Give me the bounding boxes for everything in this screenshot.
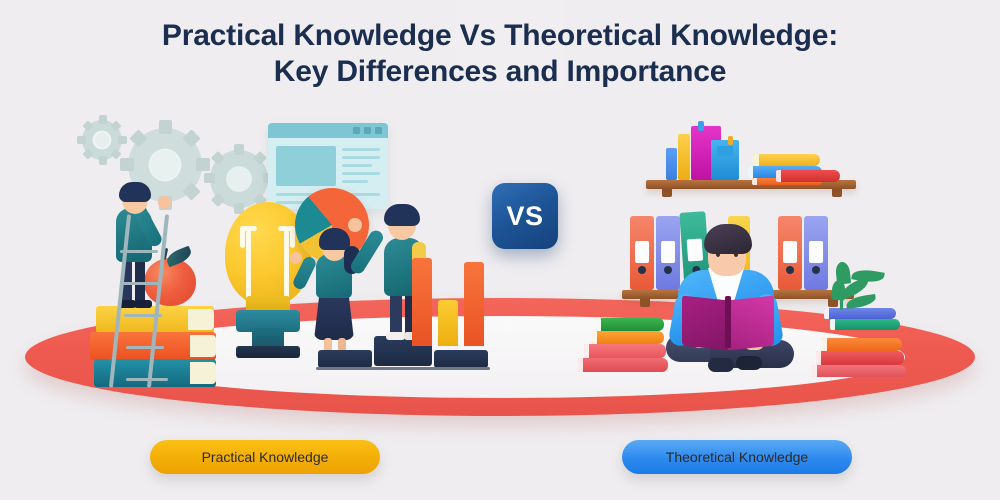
label-practical-knowledge-text: Practical Knowledge	[202, 449, 329, 465]
right-pile-book-blue	[824, 308, 896, 319]
book-pages	[190, 362, 216, 384]
book-edge	[752, 178, 757, 185]
lightbulb-filament	[284, 230, 289, 300]
left-pile-book-pink	[584, 344, 666, 358]
right-pile-book-crimson	[816, 351, 904, 365]
ring-binder-periwinkle-1	[656, 216, 680, 290]
boy-foot-right	[736, 356, 762, 370]
ladder-person-shoe-right	[134, 300, 152, 308]
binder-label	[783, 241, 797, 263]
binder-label	[661, 241, 675, 263]
shelf-book-blue	[666, 148, 677, 180]
bar-chart-bar-2	[438, 300, 458, 346]
window-text-line	[342, 156, 380, 159]
right-pile-book-teal	[830, 319, 900, 330]
lower-shelf-bracket-left	[640, 299, 650, 307]
gear-icon-medium	[210, 150, 268, 208]
open-book-left-page	[682, 296, 728, 351]
boy-eye-right	[734, 252, 738, 257]
plant-stem	[840, 262, 843, 310]
book-edge	[812, 365, 817, 377]
book-edge	[822, 338, 827, 351]
book-edge	[816, 351, 821, 365]
shelf-book-cyan-bookmark	[728, 136, 733, 145]
shelf-book-yellow	[678, 134, 690, 180]
window-text-line	[342, 148, 380, 151]
page-title: Practical Knowledge Vs Theoretical Knowl…	[0, 18, 1000, 90]
label-practical-knowledge[interactable]: Practical Knowledge	[150, 440, 380, 474]
ladder-step	[124, 314, 162, 317]
vs-badge-label: VS	[506, 201, 543, 232]
window-text-line	[342, 172, 380, 175]
shelf-book-cyan-label	[717, 146, 733, 156]
binder-label	[635, 241, 649, 263]
podium-right	[434, 350, 488, 368]
browser-window-titlebar	[268, 123, 388, 138]
ladder-step	[126, 346, 164, 349]
book-edge	[830, 319, 835, 330]
binder-hole	[664, 266, 672, 274]
ring-binder-periwinkle-2	[804, 216, 828, 290]
ladder-person-leg-right	[135, 256, 145, 304]
right-pile-book-orange	[822, 338, 902, 351]
man-hair	[384, 204, 420, 226]
window-hero-block	[276, 146, 336, 186]
bar-chart-bar-3	[464, 262, 484, 346]
bar-chart-bar-1	[412, 258, 432, 346]
shelf-book-magenta-bookmark	[698, 121, 704, 131]
podium-left	[318, 350, 372, 368]
ladder-step	[120, 250, 158, 253]
binder-label	[687, 238, 704, 261]
practical-knowledge-illustration	[60, 110, 500, 400]
theoretical-knowledge-illustration	[600, 112, 930, 397]
book-pages	[190, 335, 216, 357]
book-edge	[596, 318, 601, 331]
lightbulb-filament-loop	[290, 226, 295, 248]
woman-skirt	[314, 292, 354, 340]
podium-base-line	[316, 367, 490, 370]
boy-eye-left	[716, 252, 720, 257]
window-dot-1	[353, 127, 360, 134]
stacked-book-yellow	[754, 154, 820, 166]
window-text-line	[342, 164, 372, 167]
left-pile-book-orange	[592, 331, 664, 344]
page-title-line-1: Practical Knowledge Vs Theoretical Knowl…	[0, 18, 1000, 54]
binder-hole	[812, 266, 820, 274]
ring-binder-coral-1	[630, 216, 654, 290]
book-edge	[748, 166, 753, 178]
lightbulb-foot	[236, 346, 300, 358]
right-pile-book-rose	[812, 365, 906, 377]
book-edge	[754, 154, 759, 166]
lower-shelf-bracket-right	[828, 299, 838, 307]
boy-hair	[704, 224, 752, 254]
vs-badge: VS	[492, 183, 558, 249]
book-edge	[584, 344, 589, 358]
ladder-step	[122, 282, 160, 285]
binder-hole	[638, 266, 646, 274]
open-book-spine	[725, 296, 731, 348]
window-dot-3	[375, 127, 382, 134]
window-dot-2	[364, 127, 371, 134]
book-edge	[592, 331, 597, 344]
label-theoretical-knowledge-text: Theoretical Knowledge	[666, 449, 808, 465]
man-leg-left	[390, 290, 402, 338]
open-book-right-page	[728, 296, 774, 351]
poster-canvas: Practical Knowledge Vs Theoretical Knowl…	[0, 0, 1000, 500]
woman-hair	[319, 228, 350, 250]
stacked-book-red	[776, 170, 840, 182]
lightbulb-filament-loop	[240, 226, 245, 248]
left-pile-book-green	[596, 318, 664, 331]
book-edge	[776, 170, 781, 182]
woman-hand	[290, 252, 302, 264]
lightbulb-filament	[246, 230, 251, 300]
page-title-line-2: Key Differences and Importance	[0, 54, 1000, 90]
book-edge	[578, 358, 583, 372]
ladder-step	[126, 378, 168, 381]
ladder-person-hand	[158, 196, 171, 209]
window-text-line	[342, 180, 368, 183]
man-shoe-left	[386, 332, 405, 340]
boy-foot-left	[708, 358, 734, 372]
plant-leaf	[831, 280, 845, 301]
gear-icon-small	[82, 120, 122, 160]
book-pages	[188, 309, 214, 330]
label-theoretical-knowledge[interactable]: Theoretical Knowledge	[622, 440, 852, 474]
ring-binder-coral-2	[778, 216, 802, 290]
ladder-person-hair	[119, 182, 151, 202]
book-edge	[824, 308, 829, 319]
binder-label	[809, 241, 823, 263]
upper-shelf-bracket-right	[832, 189, 842, 197]
binder-hole	[786, 266, 794, 274]
left-pile-book-red	[578, 358, 668, 372]
upper-shelf-bracket-left	[662, 189, 672, 197]
man-hand	[348, 218, 362, 232]
